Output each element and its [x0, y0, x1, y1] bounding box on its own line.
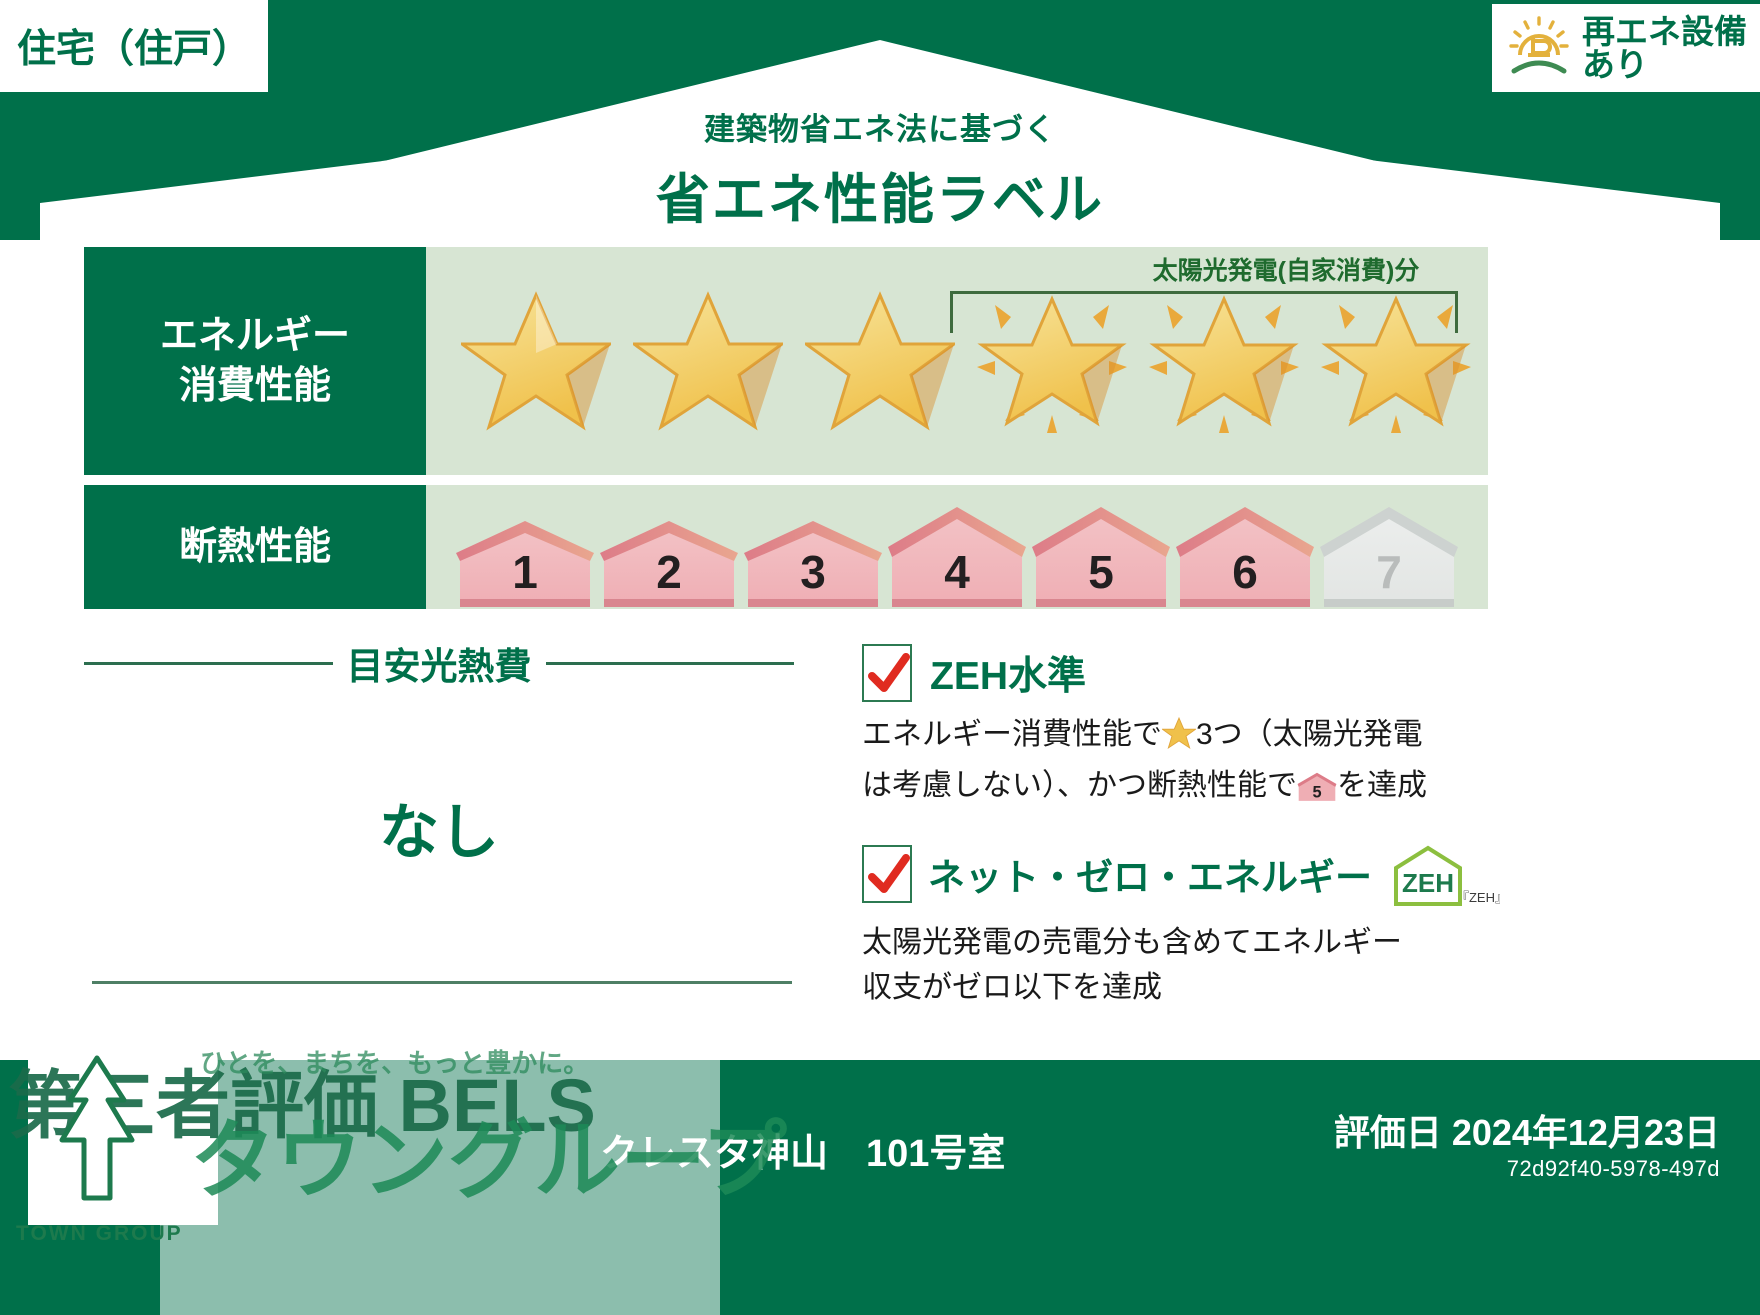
solar-bracket: [950, 291, 1458, 333]
insulation-grade-value: 1: [454, 545, 596, 599]
star-icon: [794, 271, 966, 451]
house-grade-icon: 5: [1297, 767, 1337, 818]
utility-cost-block: 目安光熱費 なし: [84, 636, 794, 984]
zeh-desc-part2: は考慮しない）、かつ断熱性能で: [862, 769, 1297, 802]
renewable-badge-label: 再エネ設備あり: [1582, 15, 1760, 81]
page-title: 省エネ性能ラベル: [0, 155, 1760, 234]
insulation-grade-value: 6: [1174, 545, 1316, 599]
house-icon: 4: [886, 499, 1028, 609]
rule-right: [546, 662, 795, 665]
house-icon: 1: [454, 511, 596, 609]
zeh-standard-title: ZEH水準: [930, 645, 1086, 701]
group-logo-text: タウングループ: [190, 1090, 787, 1215]
utility-cost-bottom-rule: [92, 981, 792, 984]
energy-performance-row: エネルギー 消費性能 太陽光発電(自家消費)分: [84, 247, 1488, 475]
insulation-row-label: 断熱性能: [84, 485, 426, 609]
house-icon: 6: [1174, 499, 1316, 609]
tree-icon: [42, 1048, 152, 1223]
net-zero-energy-header: ネット・ゼロ・エネルギー ZEH 『ZEH』: [862, 842, 1492, 906]
energy-row-body: 太陽光発電(自家消費)分: [426, 247, 1488, 475]
zeh-standard-header: ZEH水準: [862, 644, 1492, 702]
category-tag-label: 住宅（住戸）: [17, 18, 251, 74]
rule-left: [84, 662, 333, 665]
energy-label-page: 住宅（住戸） 再エネ設備あり: [0, 0, 1760, 1315]
insulation-grade-value: 4: [886, 545, 1028, 599]
solar-sun-icon: [1506, 15, 1572, 82]
svg-text:『ZEH』: 『ZEH』: [1456, 890, 1500, 905]
star-icon: [622, 271, 794, 451]
page-subtitle: 建築物省エネ法に基づく: [0, 104, 1760, 149]
energy-row-label-line1: エネルギー: [160, 311, 350, 361]
checked-checkbox-icon: [862, 845, 912, 903]
energy-row-label-line2: 消費性能: [179, 361, 331, 411]
svg-text:5: 5: [1312, 784, 1321, 802]
insulation-grade-value: 3: [742, 545, 884, 599]
star-icon: [450, 271, 622, 451]
house-icon: 3: [742, 511, 884, 609]
net-zero-desc-line2: 収支がゼロ以下を達成: [862, 965, 1492, 1010]
insulation-grade-value: 2: [598, 545, 740, 599]
insulation-row-body: 1 2: [426, 485, 1488, 609]
checked-checkbox-icon: [862, 644, 912, 702]
zeh-desc-part1: エネルギー消費性能で: [862, 718, 1162, 751]
energy-row-label: エネルギー 消費性能: [84, 247, 426, 475]
zeh-block: ZEH水準 エネルギー消費性能で3つ（太陽光発電 は考慮しない）、かつ断熱性能で…: [862, 644, 1492, 1010]
house-icon: 2: [598, 511, 740, 609]
net-zero-desc-line1: 太陽光発電の売電分も含めてエネルギー: [862, 920, 1492, 965]
zeh-desc-star-count: 3つ（太陽光発電: [1196, 718, 1423, 751]
zeh-standard-description: エネルギー消費性能で3つ（太陽光発電 は考慮しない）、かつ断熱性能で5を達成: [862, 712, 1492, 818]
utility-cost-value: なし: [84, 784, 794, 871]
zeh-desc-part3: を達成: [1337, 769, 1427, 802]
page-title-block: 建築物省エネ法に基づく 省エネ性能ラベル: [0, 104, 1760, 234]
utility-cost-title-row: 目安光熱費: [84, 636, 794, 690]
insulation-performance-row: 断熱性能 1: [84, 485, 1488, 609]
insulation-grade-scale: 1 2: [426, 485, 1488, 609]
renewable-badge: 再エネ設備あり: [1492, 4, 1760, 92]
utility-cost-title: 目安光熱費: [347, 636, 532, 690]
net-zero-energy-description: 太陽光発電の売電分も含めてエネルギー 収支がゼロ以下を達成: [862, 920, 1492, 1010]
solar-bracket-label: 太陽光発電(自家消費)分: [1026, 251, 1546, 287]
category-tag: 住宅（住戸）: [0, 0, 268, 92]
insulation-grade-value: 7: [1318, 545, 1460, 599]
evaluation-date: 評価日 2024年12月23日: [1334, 1104, 1720, 1156]
net-zero-energy-title: ネット・ゼロ・エネルギー: [928, 847, 1372, 901]
svg-text:ZEH: ZEH: [1402, 868, 1454, 898]
evaluation-uid: 72d92f40-5978-497d: [1507, 1156, 1720, 1182]
group-tagline: ひとを、まちを、もっと豊かに。: [200, 1043, 589, 1080]
zeh-house-logo-icon: ZEH 『ZEH』: [1388, 842, 1500, 906]
house-icon: 5: [1030, 499, 1172, 609]
town-group-label: TOWN GROUP: [16, 1222, 183, 1246]
insulation-grade-value: 5: [1030, 545, 1172, 599]
house-icon-inactive: 7: [1318, 499, 1460, 609]
performance-rows: エネルギー 消費性能 太陽光発電(自家消費)分: [84, 247, 1488, 619]
star-icon: [1162, 716, 1196, 763]
